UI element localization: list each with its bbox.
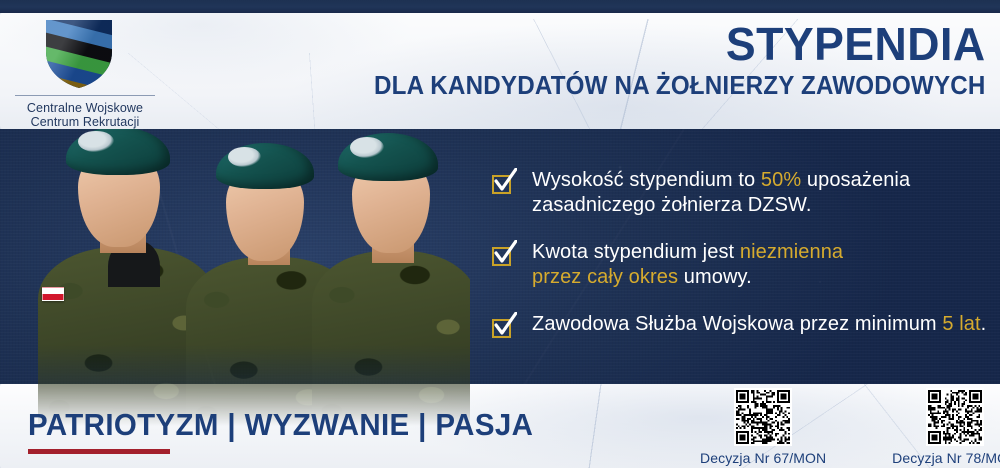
benefits-list: Wysokość stypendium to 50% uposażenia za… (492, 168, 992, 361)
checkmark-glyph (493, 240, 517, 266)
qr-caption-2: Decyzja Nr 78/MON (892, 450, 1000, 466)
benefit-1-l1c: uposażenia (801, 169, 910, 191)
logo-line-1: Centralne Wojskowe (12, 101, 158, 115)
soldier-center-beret-icon (216, 143, 314, 189)
list-item: Kwota stypendium jest niezmienna przez c… (492, 240, 992, 290)
qr-code-item-1[interactable]: Decyzja Nr 67/MON (700, 388, 826, 466)
checkbox-checked-icon (492, 245, 514, 267)
slogan-text: PATRIOTYZM | WYZWANIE | PASJA (28, 408, 533, 442)
benefit-text-1: Wysokość stypendium to 50% uposażenia za… (532, 168, 910, 218)
soldier-left-beret-icon (66, 127, 170, 175)
benefit-3-a: Zawodowa Służba Wojskowa przez minimum (532, 313, 942, 335)
qr-code-icon[interactable] (926, 388, 984, 446)
recruitment-poster: Centralne Wojskowe Centrum Rekrutacji ST… (0, 0, 1000, 468)
organization-logo[interactable]: Centralne Wojskowe Centrum Rekrutacji (12, 18, 182, 129)
benefit-2-l1a: Kwota stypendium jest (532, 241, 740, 263)
shield-gloss (42, 18, 116, 90)
qr-code-item-2[interactable]: Decyzja Nr 78/MON (892, 388, 1000, 466)
benefit-3-c: . (981, 313, 987, 335)
benefit-text-2: Kwota stypendium jest niezmienna przez c… (532, 240, 843, 290)
qr-caption-1: Decyzja Nr 67/MON (700, 450, 826, 466)
checkbox-checked-icon (492, 317, 514, 339)
qr-code-icon[interactable] (734, 388, 792, 446)
page-title: STYPENDIA (348, 20, 986, 68)
benefit-1-l2: zasadniczego żołnierza DZSW. (532, 194, 812, 216)
headline-block: STYPENDIA DLA KANDYDATÓW NA ŻOŁNIERZY ZA… (328, 20, 986, 100)
qr-code-group: Decyzja Nr 67/MON Decyzja Nr 78/MON (700, 388, 990, 466)
logo-divider (15, 95, 155, 96)
benefit-3-highlight: 5 lat (942, 313, 980, 335)
list-item: Zawodowa Służba Wojskowa przez minimum 5… (492, 312, 992, 339)
soldiers-photo-group (0, 129, 470, 429)
benefit-2-l2b: umowy. (678, 266, 752, 288)
soldier-left-flag-patch (42, 287, 64, 301)
logo-line-2: Centrum Rekrutacji (12, 115, 158, 129)
page-subtitle: DLA KANDYDATÓW NA ŻOŁNIERZY ZAWODOWYCH (374, 70, 986, 100)
benefit-1-highlight: 50% (761, 169, 801, 191)
shield-emblem-icon (42, 18, 116, 90)
top-accent-band (0, 0, 1000, 13)
soldier-right-beret-icon (338, 133, 438, 181)
checkmark-glyph (493, 168, 517, 194)
slogan-underline (28, 449, 170, 454)
slogan-block: PATRIOTYZM | WYZWANIE | PASJA (28, 408, 560, 454)
benefit-2-highlight-a: niezmienna (740, 241, 843, 263)
benefit-2-highlight-b: przez cały okres (532, 266, 678, 288)
benefit-text-3: Zawodowa Służba Wojskowa przez minimum 5… (532, 312, 986, 337)
list-item: Wysokość stypendium to 50% uposażenia za… (492, 168, 992, 218)
benefit-1-l1a: Wysokość stypendium to (532, 169, 761, 191)
checkmark-glyph (493, 312, 517, 338)
checkbox-checked-icon (492, 173, 514, 195)
